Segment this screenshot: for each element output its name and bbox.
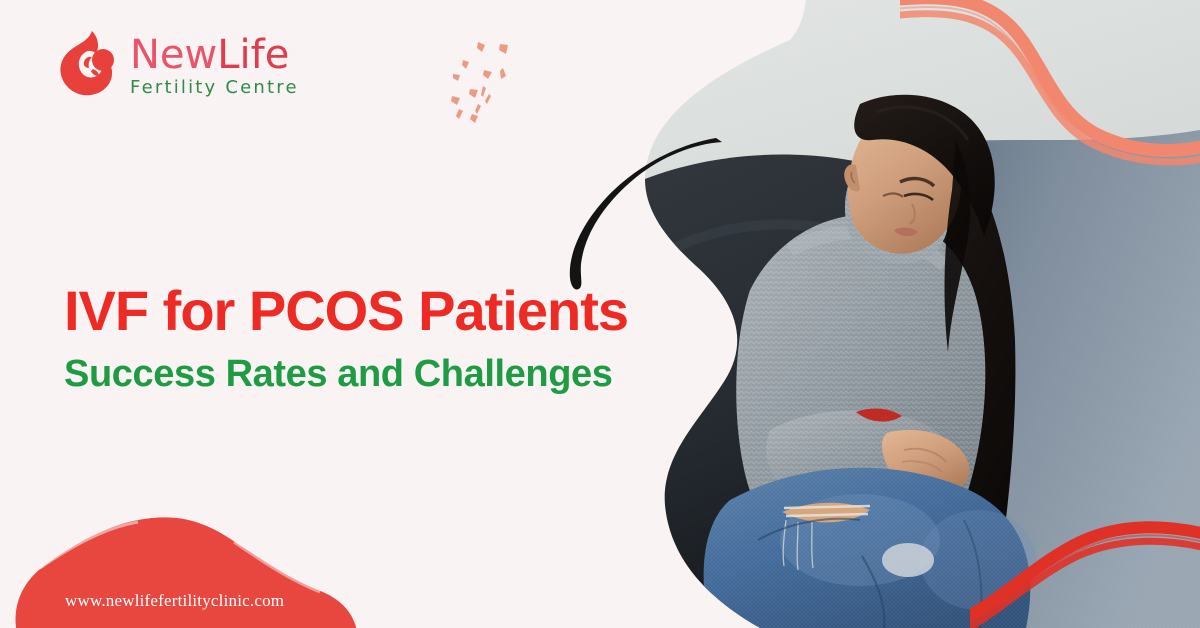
logo-tagline: Fertility Centre <box>130 78 299 98</box>
logo-name-life: Life <box>217 32 289 78</box>
top-ribbon-decoration <box>900 0 1200 184</box>
black-brushstroke-decoration <box>540 130 730 310</box>
logo-wordmark: NewLife Fertility Centre <box>130 33 299 98</box>
mother-and-child-flame-icon <box>58 29 120 101</box>
bottom-ribbon-decoration <box>970 502 1200 628</box>
logo-name-new: New <box>130 32 217 78</box>
promotional-banner: NewLife Fertility Centre <box>0 0 1200 628</box>
brand-logo[interactable]: NewLife Fertility Centre <box>58 24 358 106</box>
logo-brand-name: NewLife <box>130 35 299 75</box>
website-url[interactable]: www.newlifefertilityclinic.com <box>65 591 284 611</box>
